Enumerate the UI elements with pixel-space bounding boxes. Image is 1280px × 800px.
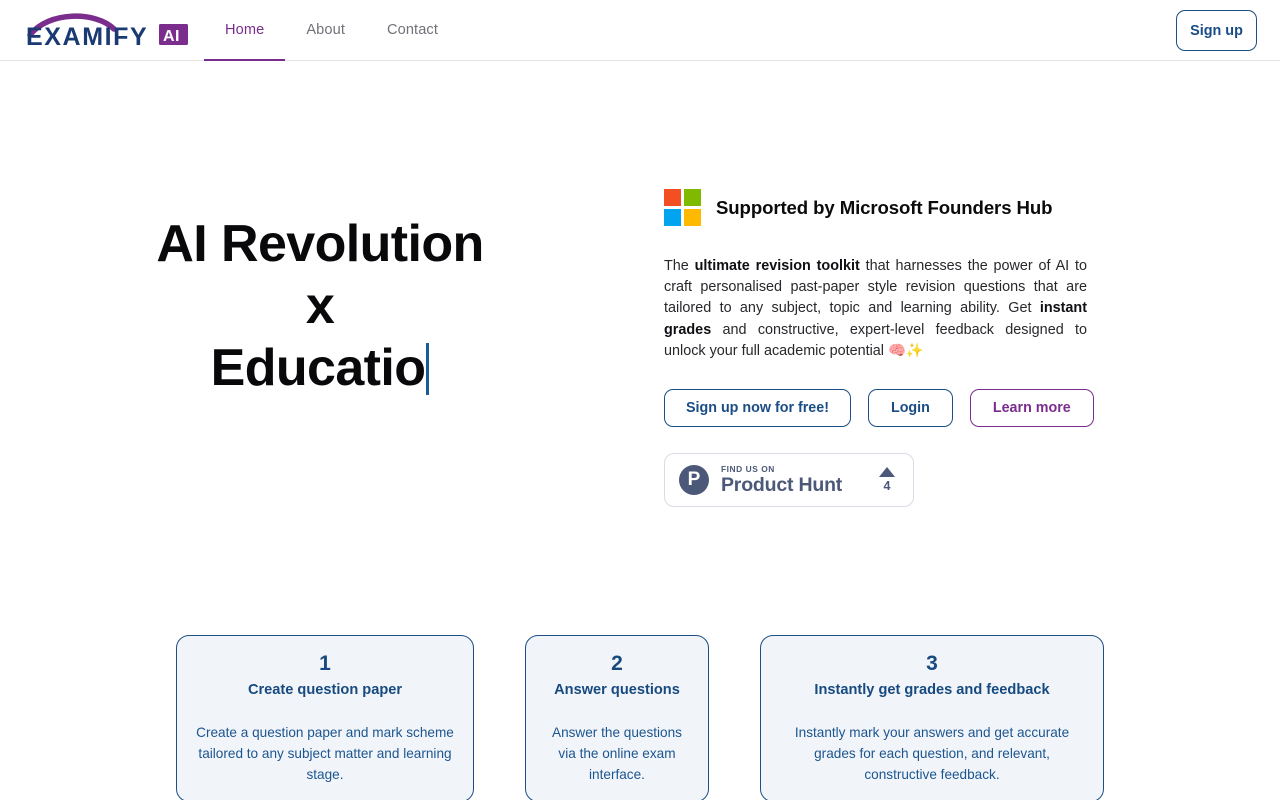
step-number: 3 [779, 650, 1085, 678]
page-title: AI Revolution x Educatio [40, 213, 600, 399]
microsoft-squares-icon [664, 189, 701, 226]
nav-item-about[interactable]: About [285, 0, 366, 61]
logo-wordmark: EXAMIFY [26, 23, 148, 51]
step-card-3: 3 Instantly get grades and feedback Inst… [760, 635, 1104, 800]
nav-item-home[interactable]: Home [204, 0, 285, 61]
step-card-2: 2 Answer questions Answer the questions … [525, 635, 709, 800]
ms-square-red [664, 189, 681, 206]
step-body: Create a question paper and mark scheme … [195, 722, 455, 785]
main-navigation: Home About Contact [204, 0, 459, 61]
microsoft-founders-hub-badge: Supported by Microsoft Founders Hub [664, 189, 1088, 226]
step-number: 1 [195, 650, 455, 678]
step-card-1: 1 Create question paper Create a questio… [176, 635, 474, 800]
logo-ai-text: AI [163, 28, 180, 45]
hero-section: AI Revolution x Educatio Supported by Mi… [0, 61, 1280, 561]
learn-more-button[interactable]: Learn more [970, 389, 1094, 427]
how-it-works-cards: 1 Create question paper Create a questio… [0, 635, 1280, 800]
hero-content-block: Supported by Microsoft Founders Hub The … [664, 189, 1088, 507]
product-hunt-vote-count: 4 [879, 480, 895, 493]
examify-ai-logo[interactable]: EXAMIFY AI [22, 9, 190, 51]
microsoft-badge-text: Supported by Microsoft Founders Hub [716, 197, 1052, 219]
ms-square-green [684, 189, 701, 206]
hero-cta-row: Sign up now for free! Login Learn more [664, 389, 1088, 427]
step-heading: Create question paper [195, 680, 455, 700]
nav-item-contact[interactable]: Contact [366, 0, 459, 61]
hero-description: The ultimate revision toolkit that harne… [664, 256, 1087, 362]
typewriter-cursor [426, 343, 429, 395]
hero-title-line-1: AI Revolution [156, 215, 483, 273]
product-hunt-badge[interactable]: P FIND US ON Product Hunt 4 [664, 453, 914, 507]
header-sign-up-button[interactable]: Sign up [1176, 10, 1257, 51]
blurb-part-1: The [664, 258, 695, 274]
upvote-triangle-icon [879, 467, 895, 477]
blurb-bold-1: ultimate revision toolkit [695, 258, 860, 274]
hero-title-line-3: Educatio [211, 339, 426, 397]
product-hunt-upvote[interactable]: 4 [879, 467, 899, 493]
product-hunt-name: Product Hunt [721, 475, 879, 496]
hero-headline-block: AI Revolution x Educatio [0, 61, 640, 561]
step-number: 2 [544, 650, 690, 678]
step-body: Answer the questions via the online exam… [544, 722, 690, 785]
step-body: Instantly mark your answers and get accu… [779, 722, 1085, 785]
hero-title-line-2: x [306, 277, 334, 335]
ms-square-blue [664, 209, 681, 226]
site-header: EXAMIFY AI Home About Contact Sign up [0, 0, 1280, 61]
product-hunt-icon: P [679, 465, 709, 495]
sign-up-free-button[interactable]: Sign up now for free! [664, 389, 851, 427]
product-hunt-labels: FIND US ON Product Hunt [721, 464, 879, 496]
ms-square-yellow [684, 209, 701, 226]
step-heading: Answer questions [544, 680, 690, 700]
login-button[interactable]: Login [868, 389, 953, 427]
step-heading: Instantly get grades and feedback [779, 680, 1085, 700]
blurb-part-3: and constructive, expert-level feedback … [664, 322, 1087, 359]
